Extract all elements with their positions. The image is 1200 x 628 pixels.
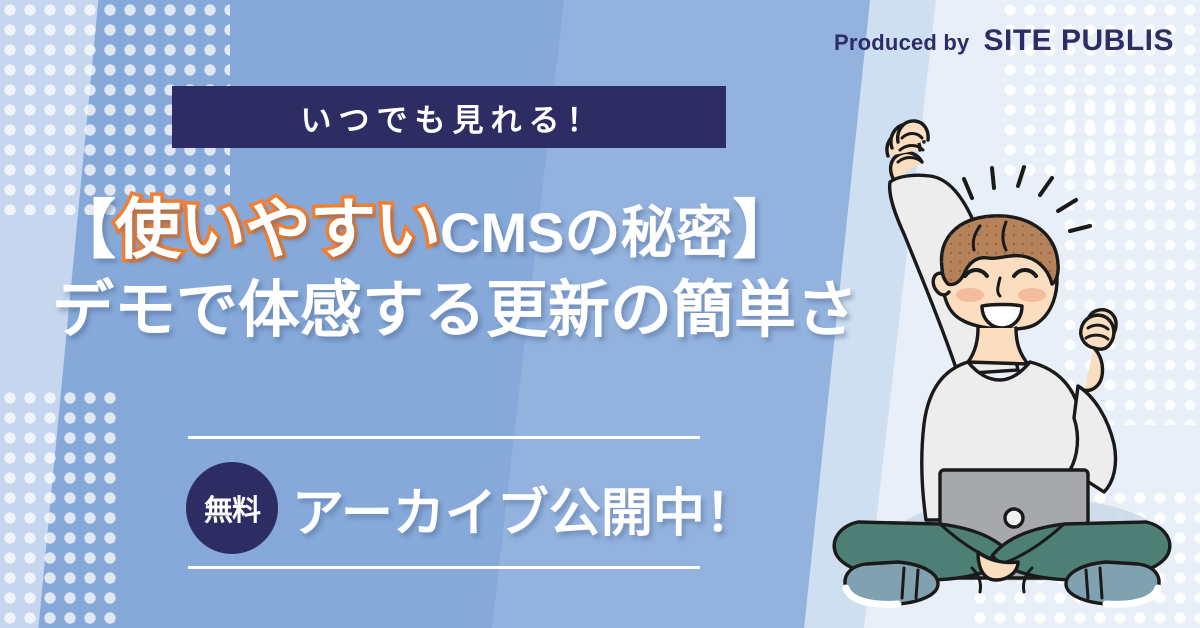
free-badge: 無料 <box>186 462 278 554</box>
promo-banner: Produced by SITE PUBLIS いつでも見れる！ 【使いやすいC… <box>0 0 1200 628</box>
divider-bottom <box>188 566 700 569</box>
headline-line-2: デモで体感する更新の簡単さ <box>52 275 872 346</box>
page-title: 【使いやすいCMSの秘密】 デモで体感する更新の簡単さ <box>52 196 872 347</box>
headline-line-1: 【使いやすいCMSの秘密】 <box>52 196 872 263</box>
free-badge-text: 無料 <box>204 487 260 529</box>
headline-emphasis: 使いやすい <box>115 192 440 266</box>
headline-bracket-open: 【 <box>52 194 115 266</box>
kicker-text: いつでも見れる！ <box>294 95 605 140</box>
cta-text: アーカイブ公開中！ <box>292 471 757 546</box>
kicker-badge: いつでも見れる！ <box>172 86 726 148</box>
headline-bracket-close: 】 <box>732 194 795 266</box>
cheering-man-illustration <box>822 52 1182 612</box>
headline-rest: CMSの秘密 <box>440 201 732 264</box>
cta-row: 無料 アーカイブ公開中！ <box>186 462 757 554</box>
divider-top <box>188 436 700 439</box>
